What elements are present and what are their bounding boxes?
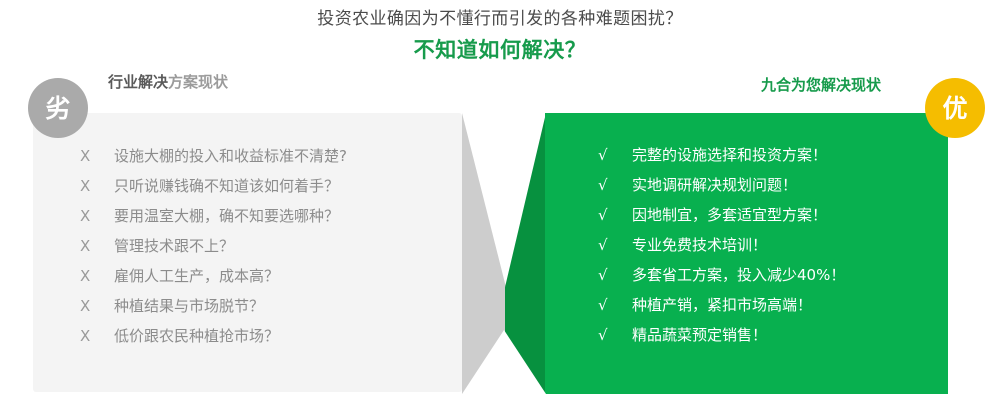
list-item-label: 雇佣人工生产，成本高？ [114, 261, 279, 291]
list-item: X设施大棚的投入和收益标准不清楚? [80, 141, 460, 171]
list-item: X管理技术跟不上？ [80, 231, 460, 261]
cross-icon: X [80, 201, 114, 231]
list-item: √完整的设施选择和投资方案！ [598, 140, 948, 170]
list-item: X雇佣人工生产，成本高？ [80, 261, 460, 291]
comparison-infographic: 投资农业确因为不懂行而引发的各种难题困扰？ 不知道如何解决？ 行业解决方案现状 … [0, 0, 1000, 416]
solution-list: √完整的设施选择和投资方案！√实地调研解决规划问题！√因地制宜，多套适宜型方案！… [598, 140, 948, 350]
list-item: √实地调研解决规划问题！ [598, 170, 948, 200]
right-column-header: 九合为您解决现状 [761, 75, 881, 95]
list-item-label: 完整的设施选择和投资方案！ [632, 140, 827, 170]
cross-icon: X [80, 231, 114, 261]
list-item: X低价跟农民种植抢市场？ [80, 321, 460, 351]
list-item: √因地制宜，多套适宜型方案！ [598, 200, 948, 230]
problem-list: X设施大棚的投入和收益标准不清楚?X只听说赚钱确不知道该如何着手？X要用温室大棚… [80, 141, 460, 351]
list-item: X要用温室大棚，确不知要选哪种？ [80, 201, 460, 231]
headline-block: 投资农业确因为不懂行而引发的各种难题困扰？ 不知道如何解决？ [0, 6, 1000, 66]
list-item-label: 管理技术跟不上？ [114, 231, 234, 261]
list-item: √专业免费技术培训！ [598, 230, 948, 260]
cross-icon: X [80, 261, 114, 291]
check-icon: √ [598, 260, 632, 290]
check-icon: √ [598, 320, 632, 350]
list-item-label: 多套省工方案，投入减少40%！ [632, 260, 845, 290]
list-item-label: 实地调研解决规划问题！ [632, 170, 797, 200]
check-icon: √ [598, 230, 632, 260]
list-item-label: 设施大棚的投入和收益标准不清楚? [114, 141, 347, 171]
list-item: √种植产销，紧扣市场高端！ [598, 290, 948, 320]
headline-main: 投资农业确因为不懂行而引发的各种难题困扰？ [0, 6, 1000, 32]
list-item-label: 要用温室大棚，确不知要选哪种？ [114, 201, 339, 231]
list-item: √多套省工方案，投入减少40%！ [598, 260, 948, 290]
check-icon: √ [598, 200, 632, 230]
left-column-header-strong: 行业解决 [108, 73, 168, 91]
list-item-label: 专业免费技术培训！ [632, 230, 767, 260]
check-icon: √ [598, 140, 632, 170]
check-icon: √ [598, 290, 632, 320]
list-item: X只听说赚钱确不知道该如何着手？ [80, 171, 460, 201]
list-item-label: 种植结果与市场脱节？ [114, 291, 264, 321]
badge-superior: 优 [925, 78, 985, 138]
cross-icon: X [80, 291, 114, 321]
left-column-header: 行业解决方案现状 [108, 72, 228, 92]
list-item: X种植结果与市场脱节？ [80, 291, 460, 321]
cross-icon: X [80, 321, 114, 351]
list-item-label: 精品蔬菜预定销售！ [632, 320, 767, 350]
list-item: √精品蔬菜预定销售！ [598, 320, 948, 350]
left-column-header-soft: 方案现状 [168, 73, 228, 91]
list-item-label: 只听说赚钱确不知道该如何着手？ [114, 171, 339, 201]
list-item-label: 低价跟农民种植抢市场？ [114, 321, 279, 351]
badge-inferior: 劣 [28, 78, 88, 138]
cross-icon: X [80, 141, 114, 171]
headline-sub: 不知道如何解决？ [0, 34, 1000, 66]
list-item-label: 因地制宜，多套适宜型方案！ [632, 200, 827, 230]
cross-icon: X [80, 171, 114, 201]
list-item-label: 种植产销，紧扣市场高端！ [632, 290, 812, 320]
check-icon: √ [598, 170, 632, 200]
